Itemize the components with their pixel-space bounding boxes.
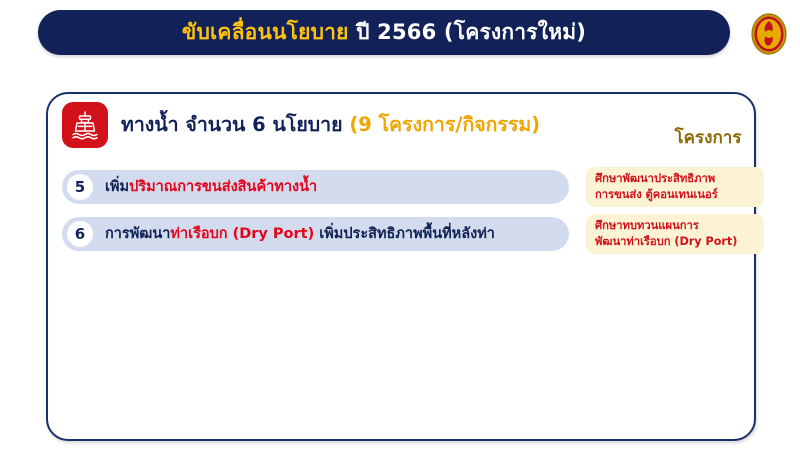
policy-pill[interactable]: 6 การพัฒนาท่าเรือบก (Dry Port) เพิ่มประส… xyxy=(62,217,569,251)
card-heading: ทางน้ำ จำนวน 6 นโยบาย (9 โครงการ/กิจกรรม… xyxy=(62,102,540,148)
card-heading-text: ทางน้ำ จำนวน 6 นโยบาย (9 โครงการ/กิจกรรม… xyxy=(121,115,540,135)
project-line: การขนส่ง ตู้คอนเทนเนอร์ xyxy=(595,187,755,203)
page-title-rest: ปี 2566 (โครงการใหม่) xyxy=(349,20,587,44)
policy-number-badge: 5 xyxy=(67,174,93,200)
policy-title-part: เพิ่ม xyxy=(105,179,129,195)
thai-government-seal-icon xyxy=(749,12,789,56)
page-title-highlight: ขับเคลื่อนนโยบาย xyxy=(182,20,349,44)
policy-title-part: เพิ่มประสิทธิภาพพื้นที่หลังท่า xyxy=(314,226,495,242)
project-line: ศึกษาทบทวนแผนการ xyxy=(595,218,755,234)
page-title: ขับเคลื่อนนโยบาย ปี 2566 (โครงการใหม่) xyxy=(182,22,586,43)
project-line: ศึกษาพัฒนาประสิทธิภาพ xyxy=(595,171,755,187)
policy-title-part: ท่าเรือบก (Dry Port) xyxy=(170,226,314,242)
project-box[interactable]: ศึกษาพัฒนาประสิทธิภาพ การขนส่ง ตู้คอนเทน… xyxy=(586,167,764,207)
card-heading-main: ทางน้ำ จำนวน 6 นโยบาย xyxy=(121,113,343,136)
policy-row-list: 5 เพิ่มปริมาณการขนส่งสินค้าทางน้ำ ศึกษาพ… xyxy=(62,170,744,264)
policy-row[interactable]: 5 เพิ่มปริมาณการขนส่งสินค้าทางน้ำ ศึกษาพ… xyxy=(62,170,744,204)
header-title-bar: ขับเคลื่อนนโยบาย ปี 2566 (โครงการใหม่) xyxy=(38,10,730,55)
ship-icon xyxy=(62,102,108,148)
policy-title-part: การพัฒนา xyxy=(105,226,170,242)
policy-title: เพิ่มปริมาณการขนส่งสินค้าทางน้ำ xyxy=(105,180,317,195)
project-line: พัฒนาท่าเรือบก (Dry Port) xyxy=(595,234,755,250)
policy-title: การพัฒนาท่าเรือบก (Dry Port) เพิ่มประสิท… xyxy=(105,227,495,242)
card-heading-count: (9 โครงการ/กิจกรรม) xyxy=(349,113,540,136)
project-box[interactable]: ศึกษาทบทวนแผนการ พัฒนาท่าเรือบก (Dry Por… xyxy=(586,214,764,254)
policy-title-part: ปริมาณการขนส่งสินค้าทางน้ำ xyxy=(129,179,317,195)
policy-pill[interactable]: 5 เพิ่มปริมาณการขนส่งสินค้าทางน้ำ xyxy=(62,170,569,204)
projects-column-header: โครงการ xyxy=(618,124,798,151)
page-header: ขับเคลื่อนนโยบาย ปี 2566 (โครงการใหม่) xyxy=(0,0,800,70)
policy-number-badge: 6 xyxy=(67,221,93,247)
policy-card: ทางน้ำ จำนวน 6 นโยบาย (9 โครงการ/กิจกรรม… xyxy=(46,92,756,441)
policy-row[interactable]: 6 การพัฒนาท่าเรือบก (Dry Port) เพิ่มประส… xyxy=(62,217,744,251)
